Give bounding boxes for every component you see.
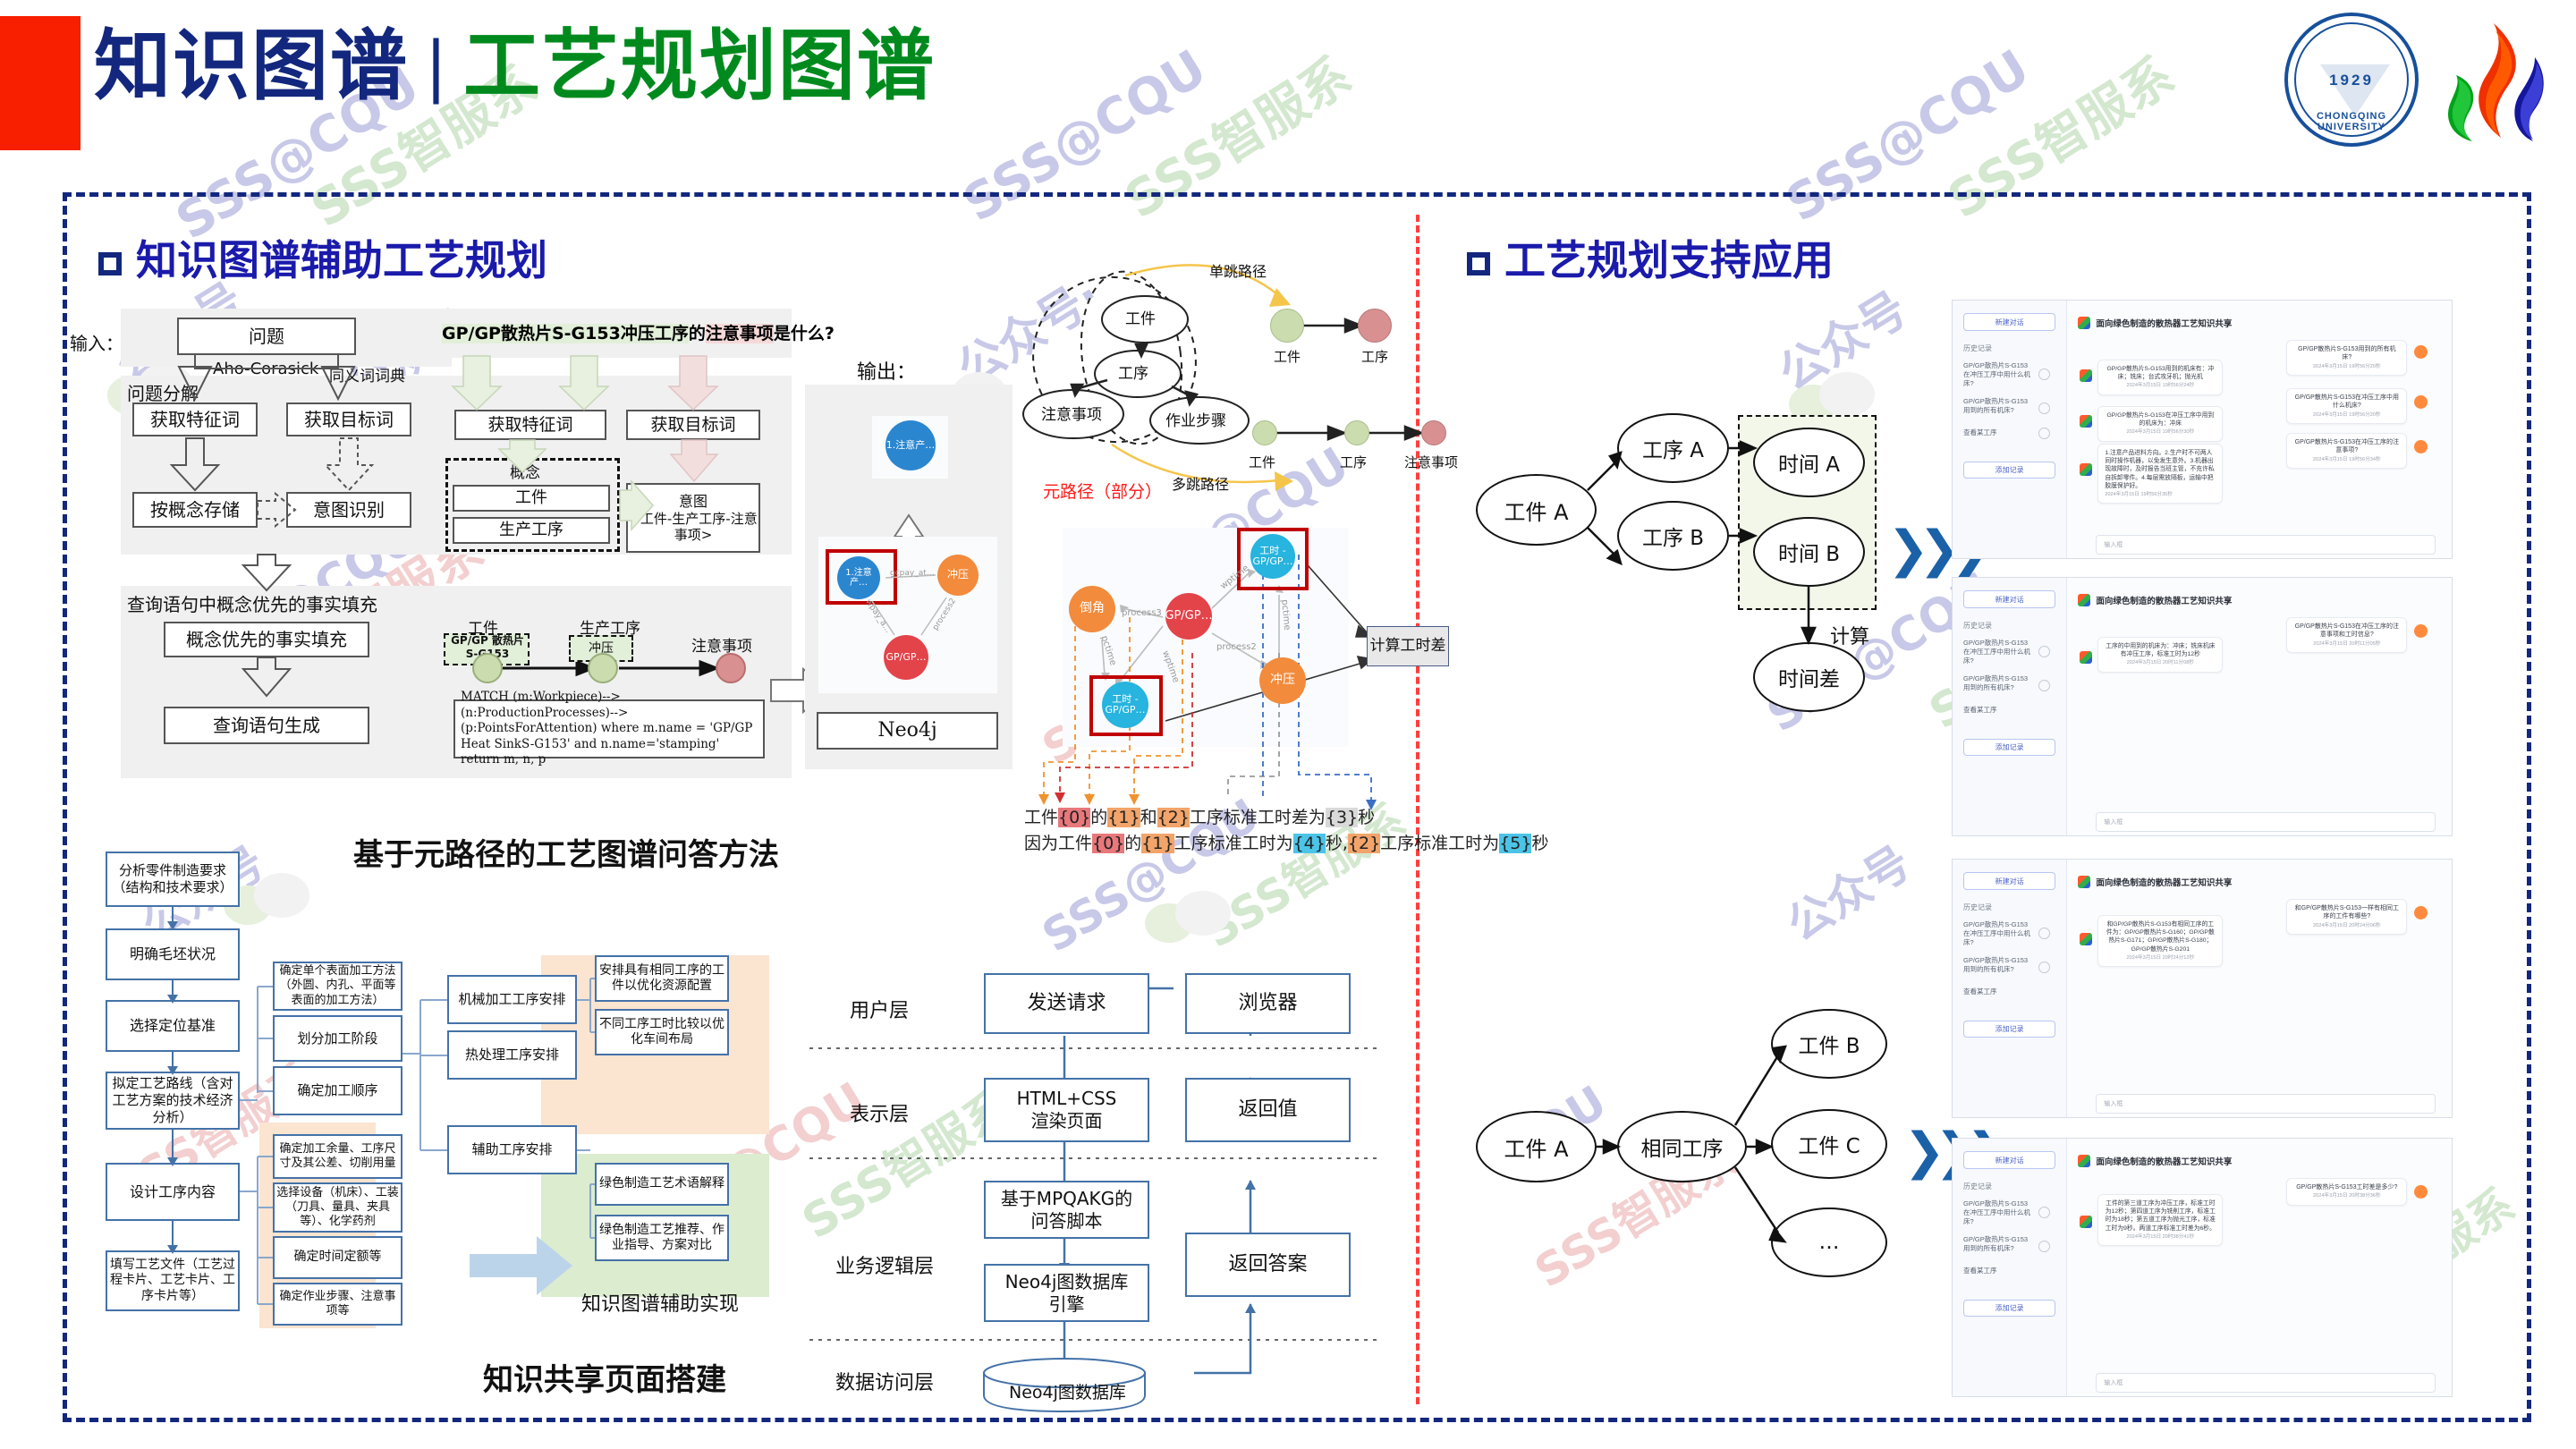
answer-template: 工件{0}的{1}和{2}工序标准工时差为{3}秒 因为工件{0}的{1}工序标… (1024, 805, 1548, 856)
slide-root: SSS@CQU SSS智服系 SSS@CQU SSS智服系 SSS@CQU SS… (0, 0, 2576, 1449)
shot3-add-record-button[interactable]: 添加记录 (1963, 1021, 2055, 1038)
seal-text: CHONGQING UNIVERSITY (2288, 111, 2415, 132)
app1-node-time-diff: 时间差 (1753, 642, 1865, 712)
shot1-history-label: 历史记录 (1963, 343, 1992, 353)
shot2-bot-avatar-0 (2080, 651, 2092, 664)
time-node-b: 工时 - GP/GP… (1102, 682, 1148, 728)
feature-word-box: 获取特征词 (132, 402, 258, 436)
edge-label-1: gcpay_at… (890, 569, 935, 578)
time-node-workpiece: GP/GP… (1165, 593, 1212, 640)
shot1-app-logo-icon (2078, 317, 2090, 329)
flow-col3-0: 机械加工工序安排 (447, 975, 577, 1024)
shot4-answer-0: 工件的第三道工序为冲压工序，标准工时为12秒；第四道工序为铣削工序，标准工时为1… (2097, 1194, 2223, 1246)
app-screenshot-4[interactable]: 新建对话 历史记录 GP/GP散热片S-G153在冲压工序中用什么机床? GP/… (1952, 1138, 2453, 1397)
shot4-new-chat-button[interactable]: 新建对话 (1963, 1151, 2055, 1169)
flow-route-0: 确定单个表面加工方法（外圆、内孔、平面等表面的加工方法） (273, 962, 402, 1011)
shot1-answer-0: GP/GP散热片S-G153用到的机床有：冲床；铣床；台式攻牙机；抛光机2024… (2097, 360, 2223, 395)
path1-label-2: 工序 (1361, 347, 1388, 366)
shot1-history-item-0[interactable]: GP/GP散热片S-G153在冲压工序中用什么机床? (1963, 361, 2033, 388)
shot1-input-box[interactable]: 输入框 (2096, 535, 2436, 555)
shot3-title: 面向绿色制造的散热器工艺知识共享 (2096, 876, 2232, 888)
app1-node-time-b: 时间 B (1753, 517, 1865, 587)
section-heading-left: 知识图谱辅助工艺规划 (98, 228, 547, 287)
input-label: 输入： (70, 329, 123, 355)
arch-return-answer: 返回答案 (1185, 1233, 1351, 1297)
flow-col3-1: 热处理工序安排 (447, 1030, 577, 1080)
shot4-delete-icon-1[interactable] (2038, 1241, 2050, 1252)
shot3-history-label: 历史记录 (1963, 902, 1992, 912)
shot4-bot-avatar-0 (2080, 1216, 2092, 1228)
triple-caption-attention: 注意事项 (691, 633, 752, 656)
shot2-sidebar: 新建对话 历史记录 GP/GP散热片S-G153在冲压工序中用什么机床? GP/… (1953, 578, 2067, 835)
triple-node-attention (716, 653, 746, 683)
app-screenshot-2[interactable]: 新建对话 历史记录 GP/GP散热片S-G153在冲压工序中用什么机床? GP/… (1952, 577, 2453, 836)
shot1-add-record-button[interactable]: 添加记录 (1963, 462, 2055, 479)
output-label: 输出： (857, 356, 916, 385)
shot1-history-item-2[interactable]: 查看某工序 (1963, 428, 2033, 437)
shot2-history-item-1[interactable]: GP/GP散热片S-G153用到的所有机床? (1963, 674, 2033, 692)
path2-node-3 (1421, 420, 1446, 445)
arch-render: HTML+CSS 渲染页面 (984, 1078, 1149, 1142)
shot4-history-label: 历史记录 (1963, 1182, 1992, 1191)
fact-fill-title: 查询语句中概念优先的事实填充 (127, 590, 377, 616)
path2-label-3: 注意事项 (1404, 453, 1458, 471)
concept-title: 概念 (510, 460, 540, 482)
title-accent-block (0, 16, 80, 150)
neo4j-box: Neo4j (817, 712, 998, 750)
intent-title: 意图 (679, 493, 708, 510)
shot1-bot-avatar-2 (2080, 463, 2092, 476)
shot2-title: 面向绿色制造的散热器工艺知识共享 (2096, 594, 2232, 606)
shot1-new-chat-button[interactable]: 新建对话 (1963, 313, 2055, 331)
app2-node-same-process: 相同工序 (1617, 1111, 1747, 1182)
shot1-bot-avatar-1 (2080, 415, 2092, 428)
concept-store-box: 按概念存储 (132, 492, 258, 528)
shot2-delete-icon-0[interactable] (2038, 646, 2050, 657)
shot2-question-0: GP/GP散热片S-G153在冲压工序的注意事项和工时信息?2024年3月15日… (2286, 617, 2407, 653)
flow-orange-1: 不同工序工时比较以优化车间布局 (595, 1009, 729, 1055)
shot1-delete-icon-2[interactable] (2038, 428, 2050, 439)
cypher-query-box: MATCH (m:Workpiece)-->(n:ProductionProce… (453, 699, 765, 758)
calc-time-diff-box: 计算工时差 (1367, 626, 1449, 666)
app2-node-workpiece-c: 工件 C (1771, 1109, 1887, 1179)
shot1-question-1: GP/GP散热片S-G153在冲压工序中用什么机床?2024年3月15日 19时… (2286, 388, 2407, 424)
flow-main-2: 选择定位基准 (106, 1000, 240, 1052)
shot3-delete-icon-1[interactable] (2038, 962, 2050, 973)
flow-main-5: 填写工艺文件（工艺过程卡片、工艺卡片、工序卡片等） (106, 1250, 240, 1311)
title-right: 工艺规划图谱 (463, 22, 936, 111)
single-hop-label: 单跳路径 (1209, 259, 1267, 281)
layer-label-3: 数据访问层 (835, 1367, 934, 1395)
page-title: 知识图谱 | 工艺规划图谱 (94, 22, 936, 111)
shot4-user-avatar-0 (2414, 1185, 2428, 1199)
shot2-main: 面向绿色制造的散热器工艺知识共享 工序的中用到的机床为：冲床；铣床机床有冲压工序… (2067, 578, 2452, 835)
app1-node-time-a: 时间 A (1753, 428, 1865, 497)
arch-engine: Neo4j图数据库 引擎 (984, 1264, 1149, 1322)
time-node-stamping: 冲压 (1259, 657, 1306, 704)
app2-node-workpiece-a: 工件 A (1476, 1111, 1597, 1182)
shot1-title: 面向绿色制造的散热器工艺知识共享 (2096, 317, 2232, 329)
app-screenshot-1[interactable]: 新建对话 历史记录 GP/GP散热片S-G153在冲压工序中用什么机床? GP/… (1952, 300, 2453, 559)
flame-logo-icon (2436, 20, 2551, 143)
layer-label-1: 表示层 (850, 1098, 909, 1127)
shot1-question-2: GP/GP散热片S-G153在冲压工序的注意事项?2024年3月15日 19时5… (2286, 433, 2407, 469)
flow-step-3: 确定作业步骤、注意事项等 (273, 1283, 402, 1326)
decompose-title: 问题分解 (127, 379, 199, 405)
section-heading-right: 工艺规划支持应用 (1467, 228, 1834, 287)
shot3-question-0: 和GP/GP散热片S-G153一样有相同工序的工件有哪些?2024年3月15日 … (2286, 899, 2407, 935)
caption-kg-assist: 知识图谱辅助实现 (581, 1288, 739, 1317)
answer-line-2: 因为工件{0}的{1}工序标准工时为{4}秒,{2}工序标准工时为{5}秒 (1024, 831, 1548, 857)
logo-group: 1929 CHONGQING UNIVERSITY (2284, 9, 2553, 148)
result-node: 1.注意产… (885, 420, 936, 470)
flow-route-1: 划分加工阶段 (273, 1015, 402, 1062)
edge-process3: process3 (1122, 608, 1162, 618)
arch-return-value: 返回值 (1185, 1078, 1351, 1142)
answer-line-1: 工件{0}的{1}和{2}工序标准工时差为{3}秒 (1024, 805, 1548, 831)
example-target-box: 获取目标词 (626, 410, 760, 440)
bullet-square-icon (1467, 252, 1490, 275)
shot2-app-logo-icon (2078, 594, 2090, 606)
shot4-app-logo-icon (2078, 1155, 2090, 1167)
arch-script: 基于MPQAKG的 问答脚本 (984, 1181, 1149, 1239)
shot1-question-0: GP/GP散热片S-G153用到的所有机床?2024年3月15日 19时56分2… (2286, 340, 2407, 376)
shot2-input-box[interactable]: 输入框 (2096, 812, 2436, 832)
flow-main-1: 明确毛坯状况 (106, 928, 240, 980)
q-part-3: 注意事项 (706, 324, 774, 343)
shot4-history-item-2[interactable]: 查看某工序 (1963, 1267, 2033, 1275)
shot4-delete-icon-0[interactable] (2038, 1207, 2050, 1218)
flow-main-4: 设计工序内容 (106, 1163, 240, 1221)
app1-calc-label: 计算 (1830, 621, 1869, 649)
flow-col3-2: 辅助工序安排 (447, 1125, 577, 1174)
shot4-question-0: GP/GP散热片S-G153工时差是多少?2024年3月15日 20时38分36… (2286, 1178, 2407, 1206)
flow-green-0: 绿色制造工艺术语解释 (595, 1163, 729, 1206)
shot1-answer-2: 1.注意产品进料方向。2.生产时不可两人同时操作机器，以免发生意外。3.机器出现… (2097, 444, 2223, 504)
shot3-app-logo-icon (2078, 876, 2090, 888)
time-node-chamfer: 倒角 (1069, 586, 1115, 632)
metapath-caption: 元路径（部分） (1043, 479, 1162, 503)
path1-node-2 (1358, 309, 1392, 343)
shot4-main: 面向绿色制造的散热器工艺知识共享 工件的第三道工序为冲压工序，标准工时为12秒；… (2067, 1139, 2452, 1396)
university-seal-icon: 1929 CHONGQING UNIVERSITY (2284, 13, 2419, 147)
q-part-4: 是什么? (774, 324, 835, 343)
shot4-input-box[interactable]: 输入框 (2096, 1373, 2436, 1393)
edge-label-synonym: 同义词词典 (329, 363, 405, 386)
intent-box-detail: 意图 <工件-生产工序-注意事项> (626, 483, 760, 553)
shot1-user-avatar-1 (2414, 395, 2428, 409)
caption-page-build: 知识共享页面搭建 (483, 1355, 726, 1399)
shot3-history-item-2[interactable]: 查看某工序 (1963, 987, 2033, 996)
triple-node-workpiece (472, 653, 503, 683)
flow-orange-0: 安排具有相同工序的工件以优化资源配置 (595, 955, 729, 1002)
seal-year: 1929 (2288, 72, 2415, 89)
shot2-new-chat-button[interactable]: 新建对话 (1963, 590, 2055, 608)
shot2-history-item-2[interactable]: 查看某工序 (1963, 706, 2033, 715)
title-left: 知识图谱 (94, 22, 409, 111)
multi-hop-label: 多跳路径 (1172, 472, 1229, 494)
shot2-delete-icon-1[interactable] (2038, 680, 2050, 691)
shot3-history-item-0[interactable]: GP/GP散热片S-G153在冲压工序中用什么机床? (1963, 920, 2033, 947)
example-question: GP/GP散热片S-G153冲压工序的注意事项是什么? (442, 320, 835, 344)
arch-browser: 浏览器 (1185, 973, 1351, 1034)
fact-fill-box: 概念优先的事实填充 (164, 622, 369, 657)
flow-step-2: 确定时间定额等 (273, 1236, 402, 1279)
path1-node-1 (1270, 309, 1304, 343)
shot3-sidebar: 新建对话 历史记录 GP/GP散热片S-G153在冲压工序中用什么机床? GP/… (1953, 860, 2067, 1117)
shot3-answer-0: 和GP/GP散热片S-G153有相同工序的工件为：GP/GP散热片S-G160；… (2097, 915, 2223, 967)
flow-green-1: 绿色制造工艺推荐、作业指导、方案对比 (595, 1215, 729, 1261)
graph-node-red: GP/GP… (884, 635, 928, 680)
section-heading-right-label: 工艺规划支持应用 (1504, 236, 1834, 284)
shot1-user-avatar-0 (2414, 345, 2428, 359)
graph-node-blue: 1.注意产… (837, 556, 880, 599)
app1-node-process-a: 工序 A (1617, 413, 1729, 483)
shot2-user-avatar-0 (2414, 624, 2428, 638)
caption-method: 基于元路径的工艺图谱问答方法 (353, 830, 779, 874)
shot1-answer-1: GP/GP散热片S-G153在冲压工序中用到的机床为：冲床2024年3月15日 … (2097, 406, 2223, 442)
app-screenshot-3[interactable]: 新建对话 历史记录 GP/GP散热片S-G153在冲压工序中用什么机床? GP/… (1952, 859, 2453, 1118)
app2-node-ellipsis: … (1771, 1207, 1887, 1277)
arch-database: Neo4j图数据库 (1009, 1379, 1121, 1403)
shot4-sidebar: 新建对话 历史记录 GP/GP散热片S-G153在冲压工序中用什么机床? GP/… (1953, 1139, 2067, 1396)
layer-label-0: 用户层 (850, 995, 909, 1023)
flow-route-2: 确定加工顺序 (273, 1066, 402, 1115)
q-part-0: GP/GP散热片S-G153 (442, 324, 621, 343)
shot1-main: 面向绿色制造的散热器工艺知识共享 GP/GP散热片S-G153用到的机床有：冲床… (2067, 301, 2452, 558)
concept-process: 生产工序 (453, 517, 610, 544)
time-node-a: 工时 - GP/GP… (1250, 534, 1295, 579)
shot1-sidebar: 新建对话 历史记录 GP/GP散热片S-G153在冲压工序中用什么机床? GP/… (1953, 301, 2067, 558)
shot2-history-item-0[interactable]: GP/GP散热片S-G153在冲压工序中用什么机床? (1963, 639, 2033, 665)
query-gen-box: 查询语句生成 (164, 707, 369, 744)
path2-node-2 (1344, 420, 1369, 445)
layer-label-2: 业务逻辑层 (835, 1250, 934, 1279)
concept-workpiece: 工件 (453, 485, 610, 512)
question-box: 问题 (177, 318, 356, 355)
flow-step-0: 确定加工余量、工序尺寸及其公差、切削用量 (273, 1134, 402, 1179)
bullet-square-icon (98, 252, 122, 275)
shot3-delete-icon-0[interactable] (2038, 928, 2050, 939)
path2-label-1: 工件 (1249, 453, 1275, 471)
path2-label-2: 工序 (1340, 453, 1367, 471)
flow-step-1: 选择设备（机床）、工装（刀具、量具、夹具等）、化学药剂 (273, 1182, 402, 1233)
shot3-user-avatar-0 (2414, 906, 2428, 919)
shot4-add-record-button[interactable]: 添加记录 (1963, 1300, 2055, 1317)
shot4-history-item-0[interactable]: GP/GP散热片S-G153在冲压工序中用什么机床? (1963, 1199, 2033, 1226)
q-part-1: 冲压工序 (621, 324, 689, 343)
shot2-answer-0: 工序的中用到的机床为：冲床；铣床机床有冲压工序，标准工时为12秒2024年3月1… (2097, 637, 2223, 673)
ontology-node-process: 工序 (1118, 360, 1148, 383)
path2-node-1 (1252, 420, 1277, 445)
ontology-node-workpiece: 工件 (1125, 306, 1156, 328)
flow-main-3: 拟定工艺路线（含对工艺方案的技术经济分析） (106, 1072, 240, 1130)
shot4-history-item-1[interactable]: GP/GP散热片S-G153用到的所有机床? (1963, 1235, 2033, 1253)
intent-recognize-box: 意图识别 (286, 492, 411, 528)
shot1-bot-avatar-0 (2080, 369, 2092, 382)
app1-node-process-b: 工序 B (1617, 501, 1729, 571)
shot2-history-label: 历史记录 (1963, 621, 1992, 631)
app2-node-workpiece-b: 工件 B (1771, 1009, 1887, 1079)
section-heading-left-label: 知识图谱辅助工艺规划 (136, 236, 547, 284)
q-part-2: 的 (689, 324, 706, 343)
edge-process2: process2 (1216, 642, 1257, 652)
example-feature-box: 获取特征词 (454, 410, 606, 440)
shot1-user-avatar-2 (2414, 440, 2428, 453)
shot4-title: 面向绿色制造的散热器工艺知识共享 (2096, 1155, 2232, 1167)
ontology-node-attention: 注意事项 (1041, 402, 1102, 424)
target-word-box: 获取目标词 (286, 402, 411, 436)
shot3-bot-avatar-0 (2080, 933, 2092, 945)
arch-send-request: 发送请求 (984, 973, 1149, 1034)
intent-detail: <工件-生产工序-注意事项> (628, 511, 758, 543)
shot3-history-item-1[interactable]: GP/GP散热片S-G153用到的所有机床? (1963, 956, 2033, 974)
title-divider: | (425, 29, 447, 105)
graph-node-orange: 冲压 (937, 555, 979, 596)
shot1-history-item-1[interactable]: GP/GP散热片S-G153用到的所有机床? (1963, 397, 2033, 415)
edge-label-aho: Aho-Corasick (213, 360, 318, 378)
path1-label-1: 工件 (1274, 347, 1301, 366)
flow-main-0: 分析零件制造要求（结构和技术要求） (106, 852, 240, 907)
shot3-new-chat-button[interactable]: 新建对话 (1963, 872, 2055, 890)
ontology-node-step: 作业步骤 (1165, 408, 1226, 430)
triple-node-process (588, 653, 618, 683)
app1-node-workpiece-a: 工件 A (1476, 474, 1597, 546)
shot3-input-box[interactable]: 输入框 (2096, 1094, 2436, 1114)
shot1-delete-icon-1[interactable] (2038, 402, 2050, 414)
shot3-main: 面向绿色制造的散热器工艺知识共享 和GP/GP散热片S-G153有相同工序的工件… (2067, 860, 2452, 1117)
shot1-delete-icon-0[interactable] (2038, 369, 2050, 380)
shot2-add-record-button[interactable]: 添加记录 (1963, 739, 2055, 756)
